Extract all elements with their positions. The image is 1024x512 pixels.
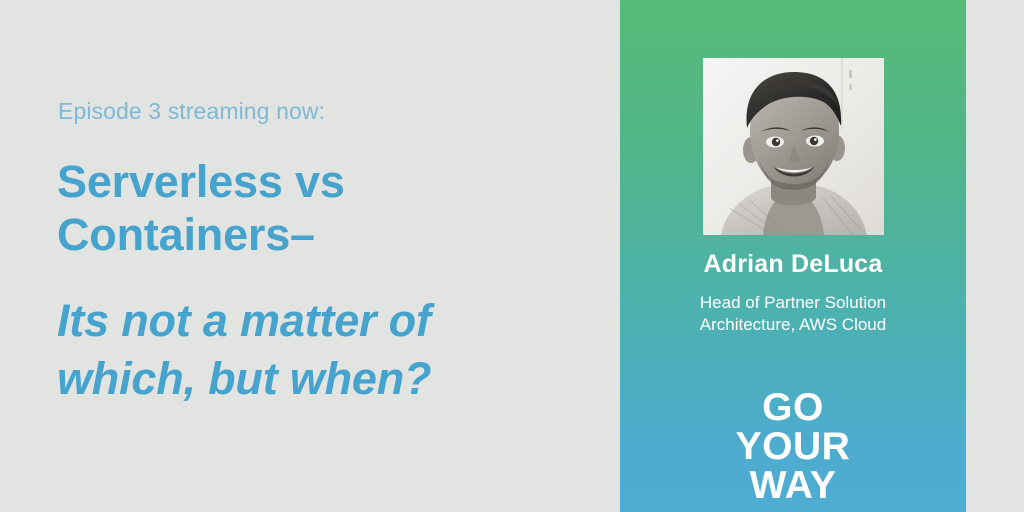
avatar xyxy=(703,58,884,235)
subhead-line-2: which, but when? xyxy=(57,350,627,408)
headline-line-1: Serverless vs xyxy=(57,155,617,208)
episode-eyebrow-label: Episode 3 streaming now: xyxy=(58,98,325,125)
left-text-panel: Episode 3 streaming now: Serverless vs C… xyxy=(0,0,620,512)
page-subtitle: Its not a matter of which, but when? xyxy=(57,292,627,408)
page-title: Serverless vs Containers– xyxy=(57,155,617,261)
promo-banner: Episode 3 streaming now: Serverless vs C… xyxy=(0,0,1024,512)
speaker-role-line-2: Architecture, AWS Cloud xyxy=(620,314,966,336)
go-your-way-logo: GO YOUR WAY xyxy=(620,388,966,505)
subhead-line-1: Its not a matter of xyxy=(57,292,627,350)
logo-line-way: WAY xyxy=(620,466,966,505)
headline-line-2: Containers– xyxy=(57,208,617,261)
logo-line-go: GO xyxy=(620,388,966,427)
right-speaker-panel: Adrian DeLuca Head of Partner Solution A… xyxy=(620,0,966,512)
right-margin-strip xyxy=(966,0,1024,512)
logo-line-your: YOUR xyxy=(620,427,966,466)
speaker-name: Adrian DeLuca xyxy=(620,250,966,279)
speaker-role-line-1: Head of Partner Solution xyxy=(620,292,966,314)
speaker-role: Head of Partner Solution Architecture, A… xyxy=(620,292,966,336)
